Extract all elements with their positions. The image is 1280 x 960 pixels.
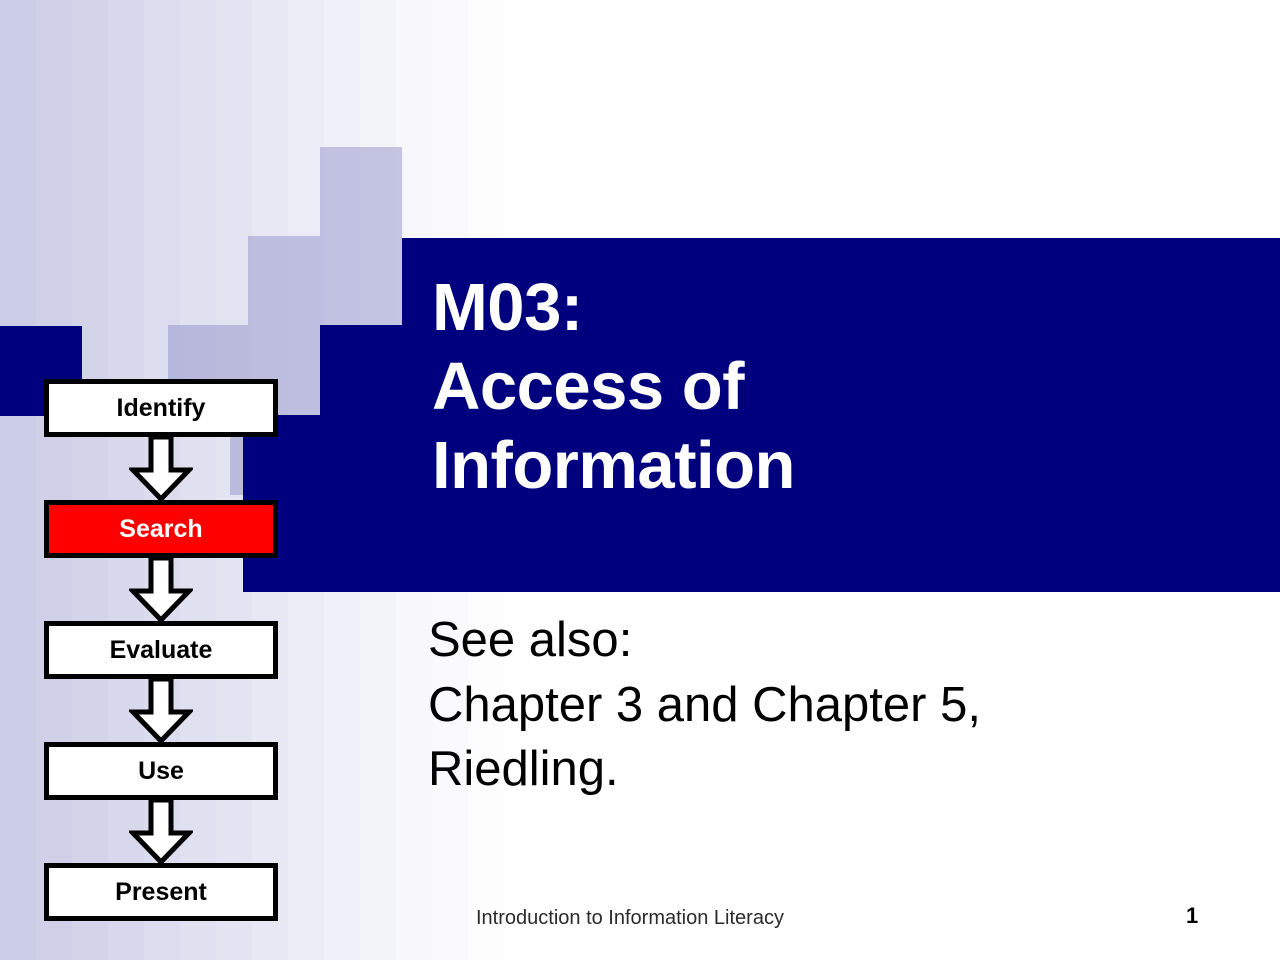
slide-body-text: See also: Chapter 3 and Chapter 5, Riedl… — [428, 608, 1228, 802]
arrow-evaluate-to-use — [129, 679, 193, 743]
banner-step-outer — [320, 325, 402, 592]
footer-label: Introduction to Information Literacy — [476, 907, 784, 930]
flow-step-label: Present — [115, 878, 207, 907]
flow-step-search[interactable]: Search — [44, 500, 278, 558]
flow-step-evaluate[interactable]: Evaluate — [44, 621, 278, 679]
title-line-1: M03: — [432, 268, 1232, 347]
flow-step-label: Identify — [117, 394, 206, 423]
flow-step-label: Evaluate — [110, 636, 213, 665]
body-line-1: See also: — [428, 608, 1228, 673]
slide-canvas: M03: Access of Information See also: Cha… — [0, 0, 1280, 960]
title-line-3: Information — [432, 426, 1232, 505]
arrow-identify-to-search — [129, 437, 193, 501]
process-flowchart: IdentifySearchEvaluateUsePresent — [0, 0, 320, 960]
flow-step-identify[interactable]: Identify — [44, 379, 278, 437]
deco-square-3 — [320, 236, 402, 325]
body-line-3: Riedling. — [428, 737, 1228, 802]
page-number: 1 — [1186, 903, 1198, 929]
title-line-2: Access of — [432, 347, 1232, 426]
deco-square-1 — [320, 147, 402, 236]
arrow-use-to-present — [129, 800, 193, 864]
body-line-2: Chapter 3 and Chapter 5, — [428, 673, 1228, 738]
flow-step-use[interactable]: Use — [44, 742, 278, 800]
page-title: M03: Access of Information — [432, 268, 1232, 505]
flow-step-label: Search — [119, 515, 202, 544]
flow-step-label: Use — [138, 757, 184, 786]
flow-step-present[interactable]: Present — [44, 863, 278, 921]
arrow-search-to-evaluate — [129, 558, 193, 622]
